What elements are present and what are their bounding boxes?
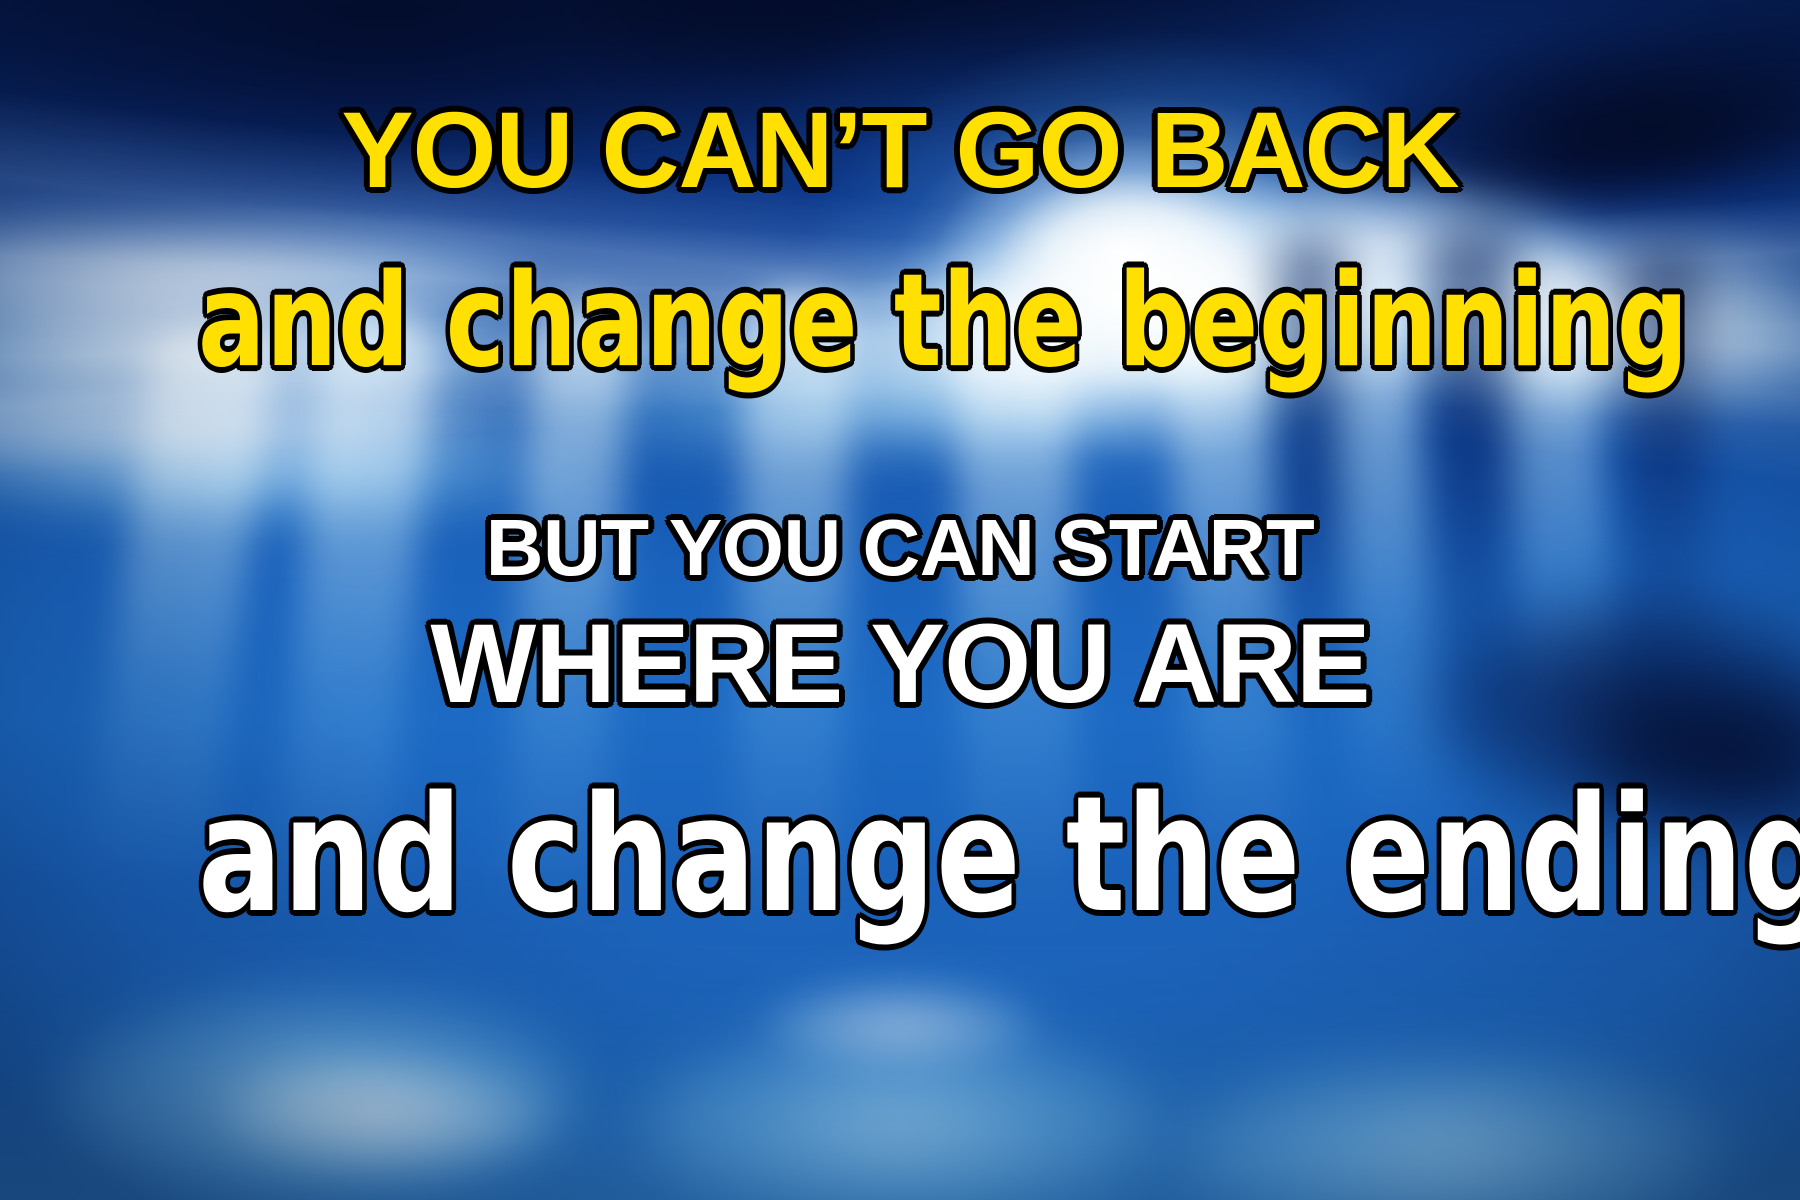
- quote-line-4: WHERE YOU ARE: [0, 608, 1800, 720]
- quote-line-5: and change the ending: [198, 775, 1602, 935]
- quote-line-3: BUT YOU CAN START: [0, 508, 1800, 588]
- quote-text-block: YOU CAN’T GO BACK and change the beginni…: [0, 0, 1800, 1200]
- quote-poster: YOU CAN’T GO BACK and change the beginni…: [0, 0, 1800, 1200]
- quote-line-2: and change the beginning: [198, 258, 1602, 386]
- quote-line-1: YOU CAN’T GO BACK: [0, 96, 1800, 204]
